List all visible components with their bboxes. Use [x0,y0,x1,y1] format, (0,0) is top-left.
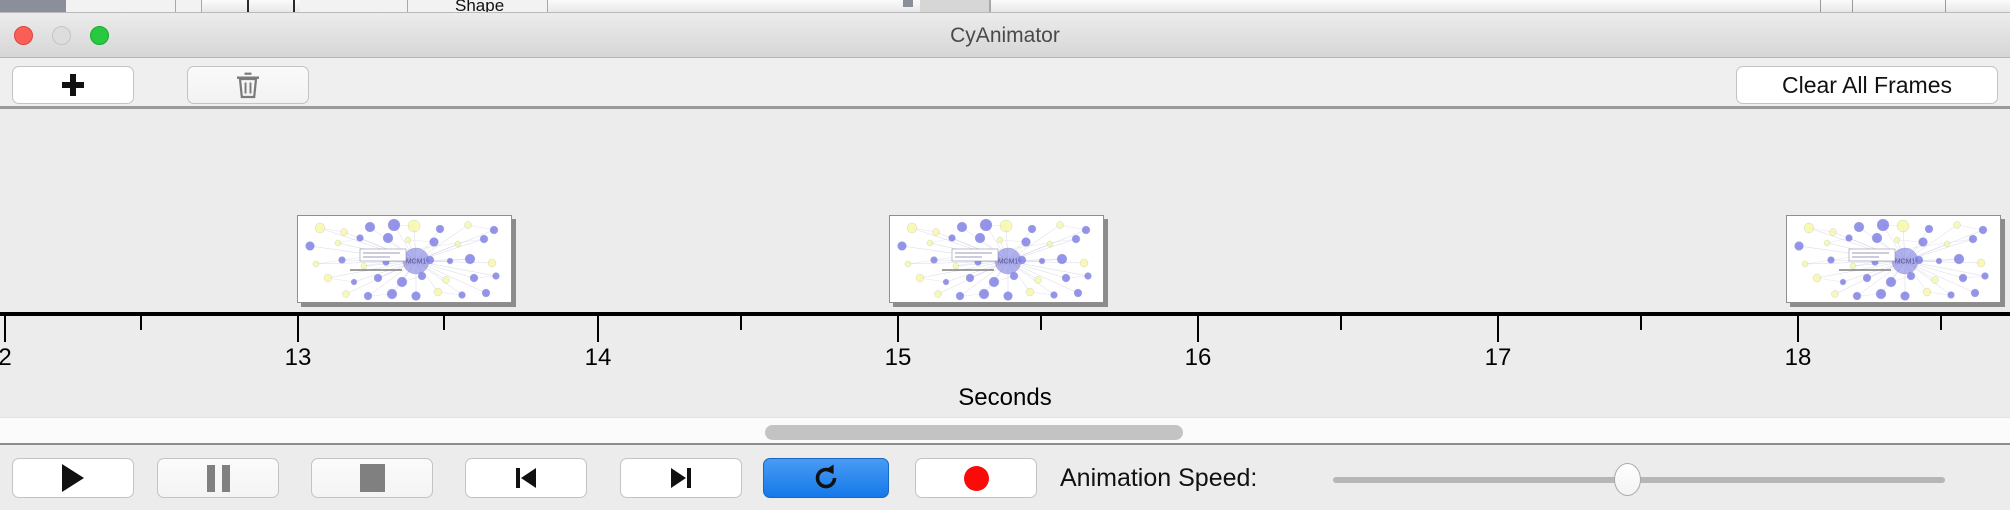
trash-icon [235,71,261,99]
axis-tick-label: 13 [285,344,312,372]
axis-tick [1040,316,1042,330]
axis-tick [740,316,742,330]
play-button[interactable] [12,458,134,498]
svg-text:MCM1: MCM1 [998,259,1019,266]
toolbar: Clear All Frames [0,58,2010,109]
axis-tick [1197,316,1199,342]
loop-button[interactable] [763,458,889,498]
timeline-axis-line [0,312,2010,316]
axis-tick-label: 17 [1485,344,1512,372]
axis-tick [597,316,599,342]
plus-icon [62,74,84,96]
axis-tick [140,316,142,330]
record-button[interactable] [915,458,1037,498]
skip-forward-button[interactable] [620,458,742,498]
background-window-label: Shape [455,0,504,13]
timeline-frame-thumbnail[interactable]: MCM1 [889,215,1104,303]
axis-tick-label: 2 [0,344,12,372]
axis-tick-label: 14 [585,344,612,372]
timeline-scrollbar[interactable] [0,417,2010,445]
axis-tick [4,316,6,342]
clear-all-frames-button[interactable]: Clear All Frames [1736,66,1998,104]
skip-forward-icon [667,464,695,492]
axis-tick [1640,316,1642,330]
play-icon [62,464,84,492]
skip-back-button[interactable] [465,458,587,498]
timeline-scrollbar-thumb[interactable] [765,425,1183,440]
add-frame-button[interactable] [12,66,134,104]
pause-button[interactable] [157,458,279,498]
axis-tick [897,316,899,342]
stop-button[interactable] [311,458,433,498]
svg-text:MCM1: MCM1 [406,259,427,266]
axis-title: Seconds [0,384,2010,412]
svg-text:MCM1: MCM1 [1895,259,1916,266]
animation-speed-label: Animation Speed: [1060,458,1257,498]
clear-all-frames-label: Clear All Frames [1782,72,1952,99]
delete-frame-button[interactable] [187,66,309,104]
axis-tick-label: 15 [885,344,912,372]
timeline-panel[interactable]: MCM1MCM1MCM1 2131415161718 Seconds [0,112,2010,417]
playback-control-bar: Animation Speed: [0,447,2010,510]
animation-speed-slider[interactable] [1333,477,1945,483]
axis-tick [1497,316,1499,342]
axis-tick [1340,316,1342,330]
axis-tick-label: 16 [1185,344,1212,372]
title-bar: CyAnimator [0,13,2010,58]
axis-tick [1797,316,1799,342]
animation-speed-thumb[interactable] [1614,463,1641,496]
axis-tick [297,316,299,342]
background-window-strip: Shape [0,0,2010,13]
stop-icon [360,464,385,492]
loop-icon [811,463,841,493]
record-icon [964,466,989,491]
axis-tick-label: 18 [1785,344,1812,372]
timeline-frame-thumbnail[interactable]: MCM1 [297,215,512,303]
cyanimator-window: Shape CyAnimator Clear All Fram [0,0,2010,510]
skip-back-icon [512,464,540,492]
pause-icon [207,465,230,492]
axis-tick [443,316,445,330]
axis-tick [1940,316,1942,330]
timeline-frame-thumbnail[interactable]: MCM1 [1786,215,2001,303]
window-title: CyAnimator [0,13,2010,58]
